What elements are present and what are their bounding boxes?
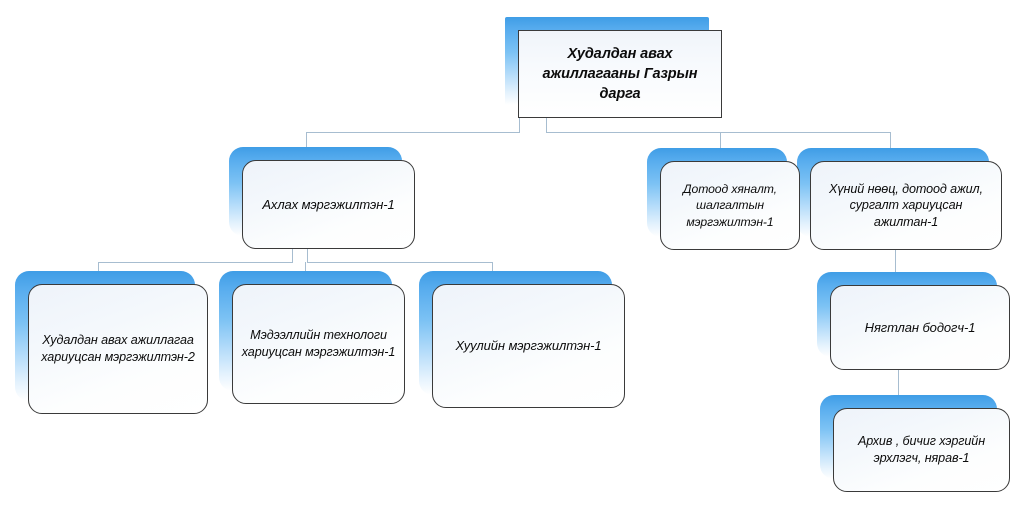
node-label: Худалдан авах ажиллагаа хариуцсан мэргэж… (29, 332, 207, 365)
node-face: Ахлах мэргэжилтэн-1 (242, 160, 415, 249)
node-label: Нягтлан бодогч-1 (857, 319, 984, 336)
connector-root-right-stub (546, 117, 547, 133)
node-hudaldan-avah[interactable]: Худалдан авах ажиллагаа хариуцсан мэргэж… (28, 284, 208, 414)
node-medeellin-tehnologi[interactable]: Мэдээллийн технологи хариуцсан мэргэжилт… (232, 284, 405, 404)
node-label: Хүний нөөц, дотоод ажил, сургалт хариуцс… (811, 181, 1001, 231)
node-label: Архив , бичиг хэргийн эрхлэгч, нярав-1 (834, 433, 1009, 466)
node-dotood[interactable]: Дотоод хяналт, шалгалтын мэргэжилтэн-1 (660, 161, 800, 250)
connector-root-left-stub (519, 117, 520, 133)
node-nyagtlan[interactable]: Нягтлан бодогч-1 (830, 285, 1010, 370)
node-root[interactable]: Худалдан авах ажиллагааны Газрын дарга (518, 30, 722, 118)
node-face: Мэдээллийн технологи хариуцсан мэргэжилт… (232, 284, 405, 404)
node-ahlah[interactable]: Ахлах мэргэжилтэн-1 (242, 160, 415, 249)
connector-left-bus (306, 132, 520, 133)
node-face: Хүний нөөц, дотоод ажил, сургалт хариуцс… (810, 161, 1002, 250)
org-chart-canvas: Худалдан авах ажиллагааны Газрын дарга А… (0, 0, 1024, 508)
connector-ahlah-bus-right (307, 262, 493, 263)
connector-ahlah-right-stub (307, 248, 308, 263)
node-huuliin[interactable]: Хуулийн мэргэжилтэн-1 (432, 284, 625, 408)
node-face: Хуулийн мэргэжилтэн-1 (432, 284, 625, 408)
node-face: Худалдан авах ажиллагааны Газрын дарга (518, 30, 722, 118)
node-label: Мэдээллийн технологи хариуцсан мэргэжилт… (233, 327, 404, 360)
node-face: Архив , бичиг хэргийн эрхлэгч, нярав-1 (833, 408, 1010, 492)
node-label: Ахлах мэргэжилтэн-1 (254, 196, 402, 213)
node-hunii-nooc[interactable]: Хүний нөөц, дотоод ажил, сургалт хариуцс… (810, 161, 1002, 250)
node-face: Дотоод хяналт, шалгалтын мэргэжилтэн-1 (660, 161, 800, 250)
connector-ahlah-bus-left (98, 262, 292, 263)
node-face: Нягтлан бодогч-1 (830, 285, 1010, 370)
node-label: Худалдан авах ажиллагааны Газрын дарга (519, 44, 721, 104)
node-arhiv[interactable]: Архив , бичиг хэргийн эрхлэгч, нярав-1 (833, 408, 1010, 492)
node-face: Худалдан авах ажиллагаа хариуцсан мэргэж… (28, 284, 208, 414)
node-label: Дотоод хяналт, шалгалтын мэргэжилтэн-1 (661, 181, 799, 229)
node-label: Хуулийн мэргэжилтэн-1 (447, 337, 609, 354)
connector-right-bus (546, 132, 891, 133)
connector-ahlah-left-stub (292, 248, 293, 263)
